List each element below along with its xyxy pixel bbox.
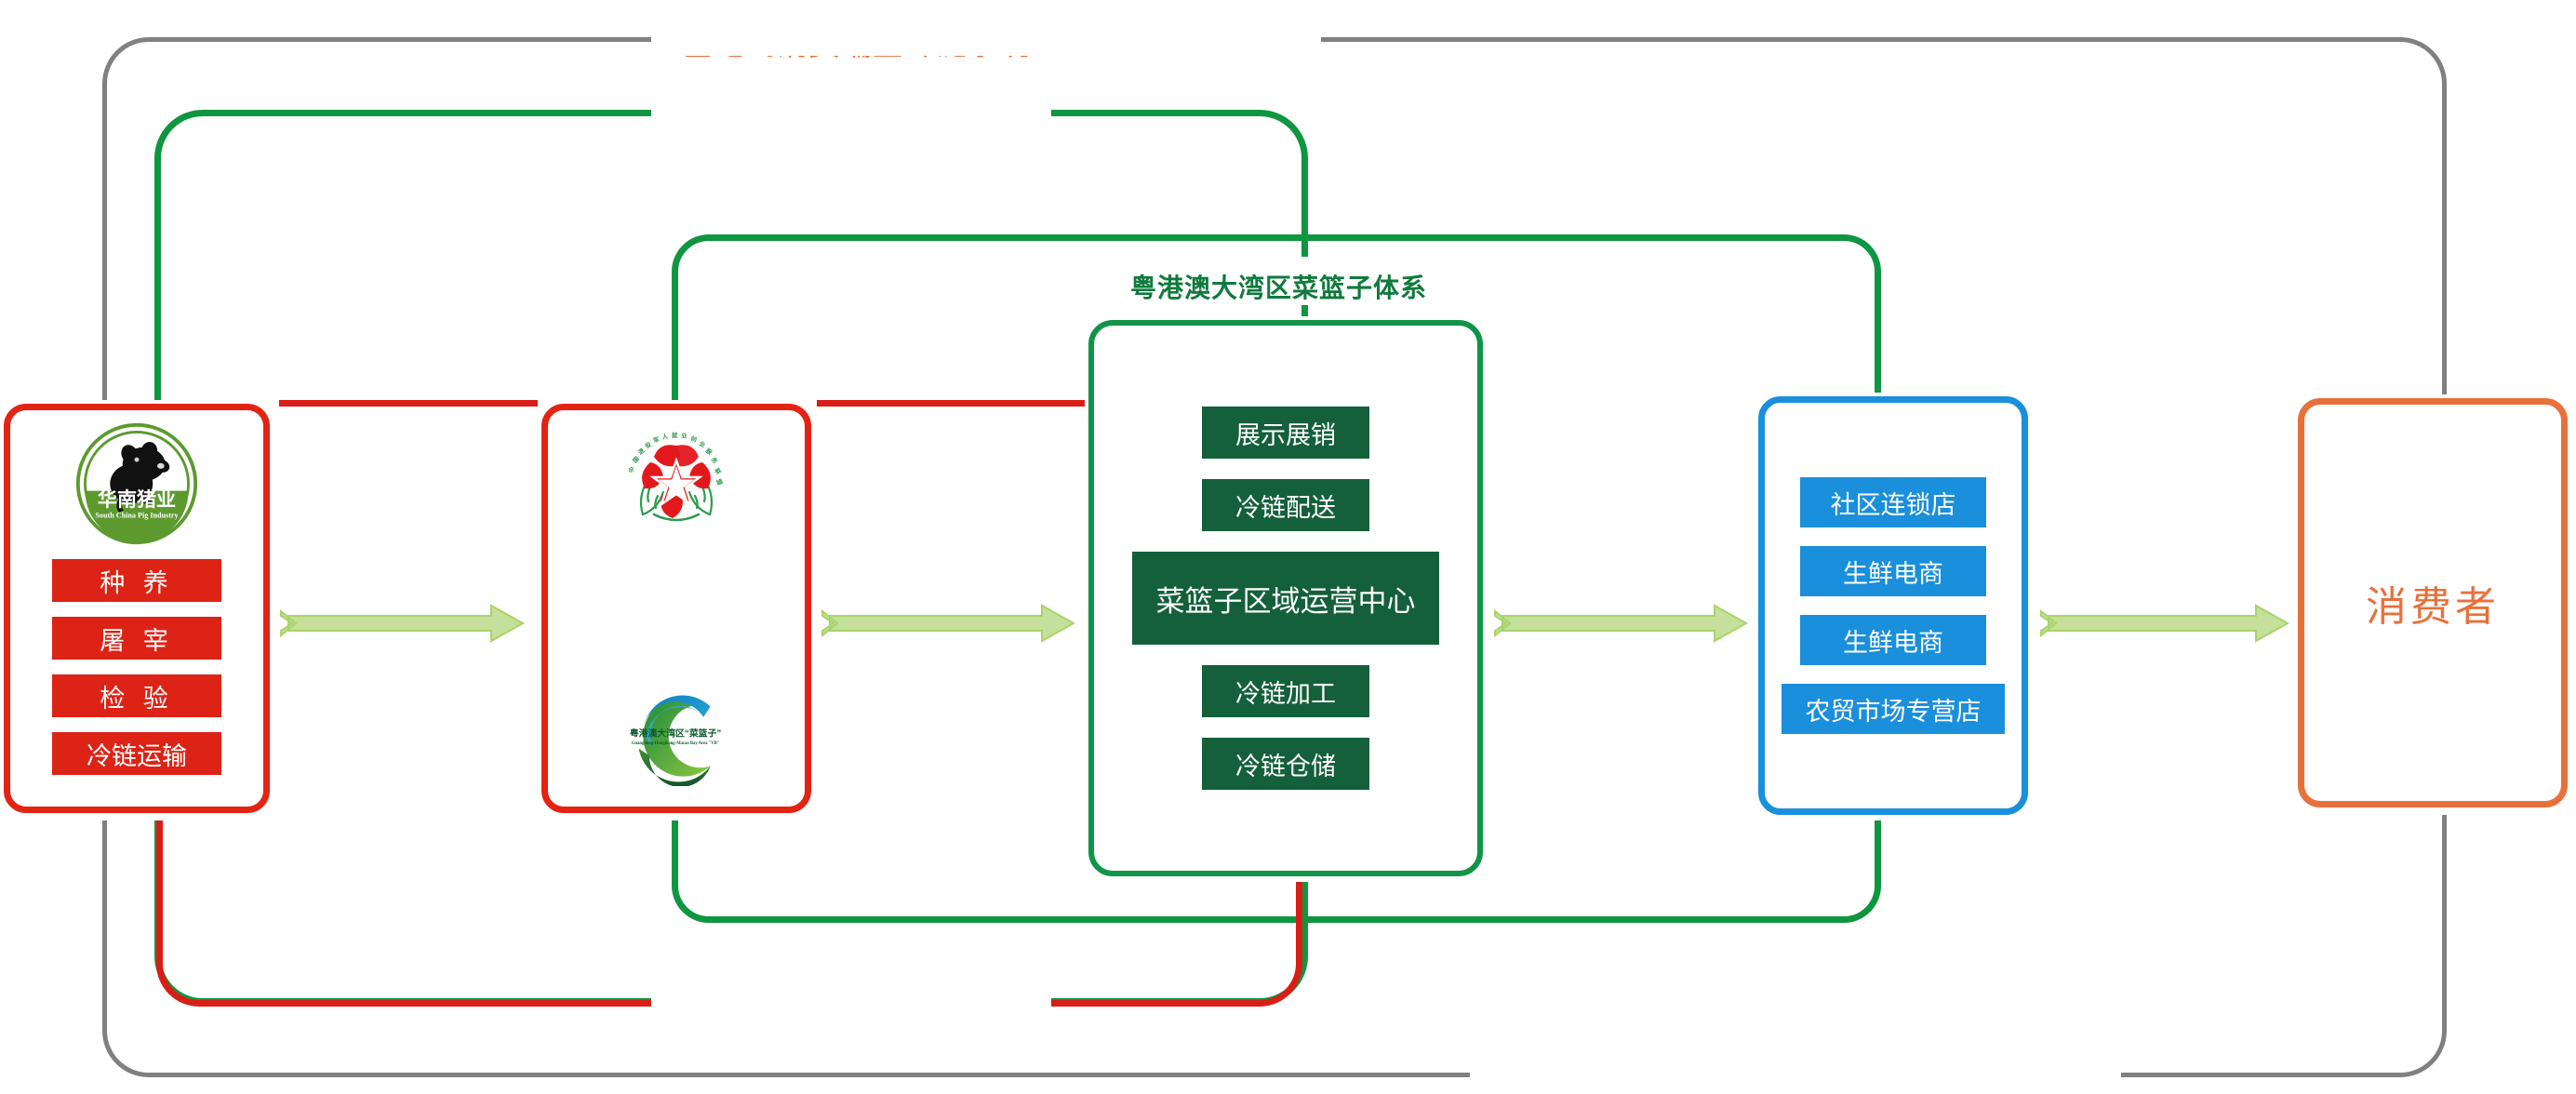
channel-item-3[interactable]: 农贸市场专营店 <box>1782 684 2005 734</box>
china-veteran-employment-service-alliance-logo: 中 国 退 役 军 人 就 业 创 业 服 务 联 盟 <box>617 431 736 542</box>
basket-item-3[interactable]: 冷链加工 <box>1202 665 1369 717</box>
consumer-label: 消费者 <box>2366 573 2500 633</box>
mask-green-label <box>651 104 1051 158</box>
channel-item-1[interactable]: 生鲜电商 <box>1800 546 1986 596</box>
svg-text:粤港澳大湾区“菜篮子”: 粤港澳大湾区“菜篮子” <box>630 727 722 739</box>
card-consumer[interactable]: 消费者 <box>2298 398 2568 807</box>
svg-text:创: 创 <box>688 434 698 444</box>
svg-text:人: 人 <box>661 433 669 441</box>
channel-item-2[interactable]: 生鲜电商 <box>1800 615 1986 665</box>
base-step-2[interactable]: 检 验 <box>52 674 221 717</box>
basket-item-0[interactable]: 展示展销 <box>1202 407 1369 459</box>
south-china-pig-industry-logo: 华南猪业 South China Pig Industry <box>74 421 199 546</box>
card-production-base[interactable]: 华南猪业 South China Pig Industry 种 养 屠 宰 检 … <box>4 404 270 813</box>
svg-text:业: 业 <box>681 431 688 440</box>
basket-system-title: 粤港澳大湾区菜篮子体系 <box>1130 268 1427 305</box>
mask-red-label <box>651 954 1051 1008</box>
card-sales-channels[interactable]: 社区连锁店 生鲜电商 生鲜电商 农贸市场专营店 <box>1758 396 2028 815</box>
mask-bottom-label <box>1470 1021 2121 1087</box>
arrow-base-to-cert <box>279 600 530 651</box>
svg-text:Guangdong-HongKong-Macao Bay A: Guangdong-HongKong-Macao Bay Area "VB" <box>632 741 720 746</box>
svg-text:中: 中 <box>626 465 636 474</box>
base-step-3[interactable]: 冷链运输 <box>52 732 221 775</box>
base-step-0[interactable]: 种 养 <box>52 559 221 602</box>
arrow-channel-to-consumer <box>2039 600 2295 651</box>
channel-item-0[interactable]: 社区连锁店 <box>1800 477 1986 527</box>
card-certifications[interactable]: 中 国 退 役 军 人 就 业 创 业 服 务 联 盟 <box>541 404 811 813</box>
svg-text:业: 业 <box>698 439 707 449</box>
cold-chain-diagram: 基地到消费端全冷链系统 基地到消费端全冷链系统 B端闭环产业链 订单种养产业链 <box>0 0 2576 1094</box>
svg-text:役: 役 <box>643 440 653 451</box>
svg-text:服: 服 <box>704 446 714 456</box>
svg-text:退: 退 <box>636 446 647 456</box>
svg-text:South China Pig Industry: South China Pig Industry <box>95 511 178 519</box>
svg-text:盟: 盟 <box>714 477 725 487</box>
svg-text:国: 国 <box>631 455 641 465</box>
svg-text:华南猪业: 华南猪业 <box>98 487 176 511</box>
basket-item-1[interactable]: 冷链配送 <box>1202 479 1369 531</box>
basket-item-2[interactable]: 菜篮子区域运营中心 <box>1132 552 1439 645</box>
svg-text:就: 就 <box>672 431 678 439</box>
basket-item-4[interactable]: 冷链仓储 <box>1202 738 1369 790</box>
svg-text:军: 军 <box>652 434 661 445</box>
greater-bay-area-vegetable-basket-logo: 粤港澳大湾区“菜篮子” Guangdong-HongKong-Macao Bay… <box>620 686 733 786</box>
arrow-cert-to-basket <box>821 600 1081 651</box>
panel-basket-system[interactable]: 展示展销 冷链配送 菜篮子区域运营中心 冷链加工 冷链仓储 <box>1088 320 1483 876</box>
base-step-1[interactable]: 屠 宰 <box>52 617 221 660</box>
svg-text:联: 联 <box>713 466 723 476</box>
mask-top-label <box>651 0 1321 56</box>
arrow-basket-to-channel <box>1493 600 1754 651</box>
svg-text:务: 务 <box>710 455 720 465</box>
